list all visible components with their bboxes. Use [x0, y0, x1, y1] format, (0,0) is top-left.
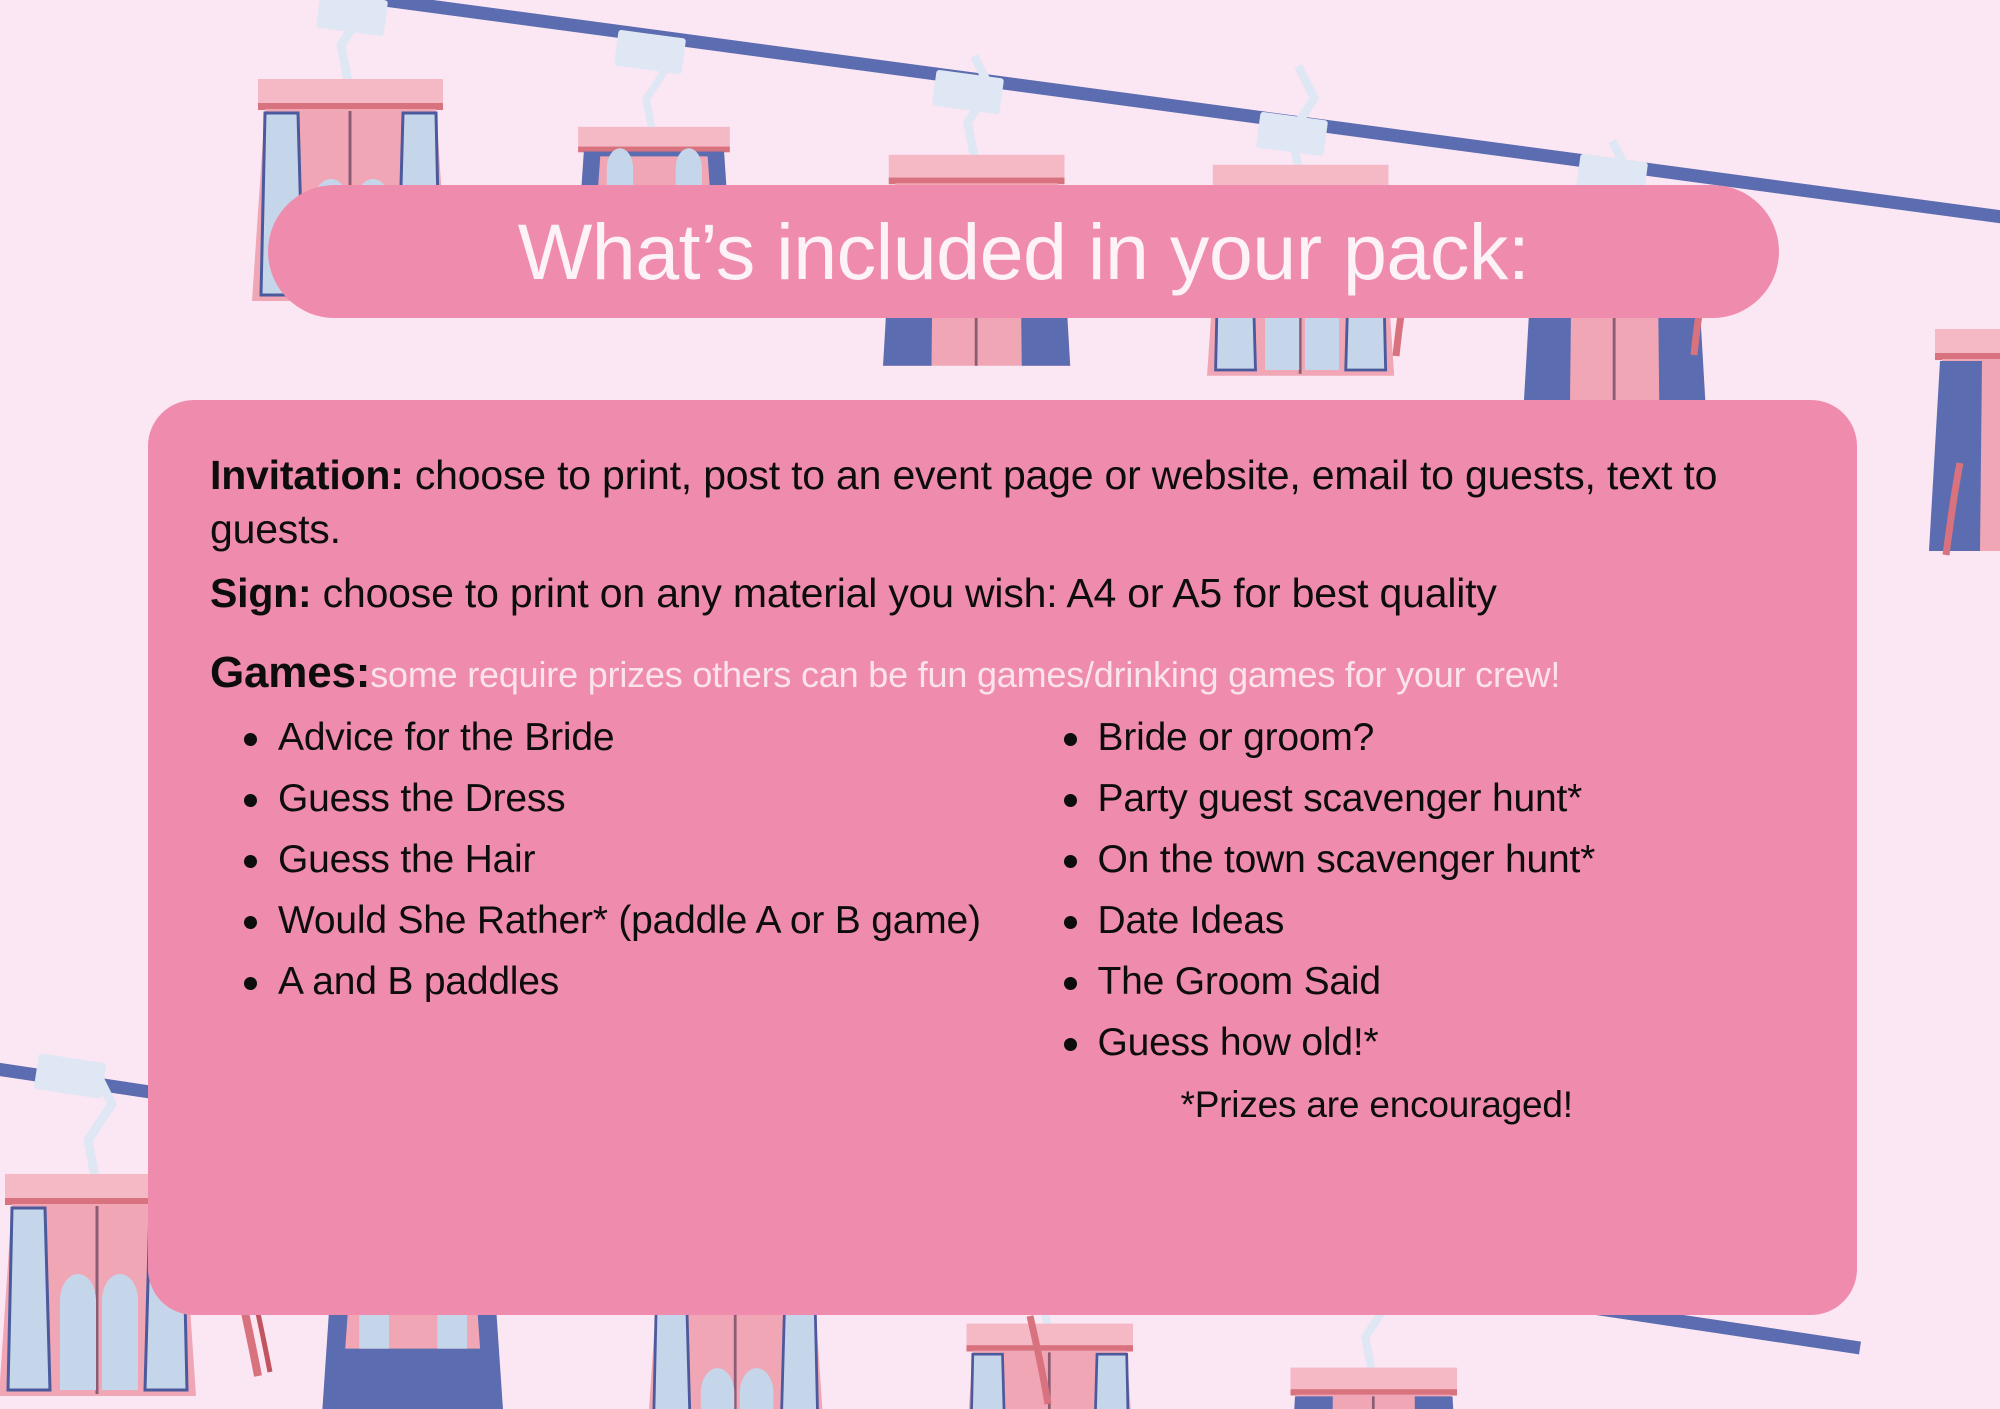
invitation-body: choose to print, post to an event page o… [210, 452, 1717, 552]
title-banner: What’s included in your pack: [268, 185, 1779, 318]
games-list-right: Bride or groom? Party guest scavenger hu… [1048, 718, 1796, 1062]
games-columns: Advice for the Bride Guess the Dress Gue… [210, 718, 1795, 1126]
games-column-left: Advice for the Bride Guess the Dress Gue… [228, 718, 1012, 1126]
list-item: Bride or groom? [1048, 718, 1796, 757]
list-item: Date Ideas [1048, 901, 1796, 940]
page-title: What’s included in your pack: [518, 212, 1530, 291]
games-subtitle: some require prizes others can be fun ga… [370, 654, 1560, 695]
list-item: The Groom Said [1048, 962, 1796, 1001]
games-list-left: Advice for the Bride Guess the Dress Gue… [228, 718, 1012, 1001]
list-item: Guess the Dress [228, 779, 1012, 818]
list-item: Guess how old!* [1048, 1023, 1796, 1062]
invitation-label: Invitation: [210, 452, 404, 498]
sign-label: Sign: [210, 570, 311, 616]
list-item: Advice for the Bride [228, 718, 1012, 757]
sign-line: Sign: choose to print on any material yo… [210, 566, 1795, 620]
poster-canvas: What’s included in your pack: Invitation… [0, 0, 2000, 1409]
prizes-footnote: *Prizes are encouraged! [1048, 1084, 1796, 1126]
games-line: Games:some require prizes others can be … [210, 644, 1795, 702]
list-item: Party guest scavenger hunt* [1048, 779, 1796, 818]
content-card: Invitation: choose to print, post to an … [148, 400, 1857, 1315]
invitation-line: Invitation: choose to print, post to an … [210, 448, 1795, 556]
list-item: Guess the Hair [228, 840, 1012, 879]
games-label: Games: [210, 648, 370, 697]
games-column-right: Bride or groom? Party guest scavenger hu… [1012, 718, 1796, 1126]
sign-body: choose to print on any material you wish… [311, 570, 1496, 616]
list-item: A and B paddles [228, 962, 1012, 1001]
list-item: Would She Rather* (paddle A or B game) [228, 901, 1012, 940]
list-item: On the town scavenger hunt* [1048, 840, 1796, 879]
